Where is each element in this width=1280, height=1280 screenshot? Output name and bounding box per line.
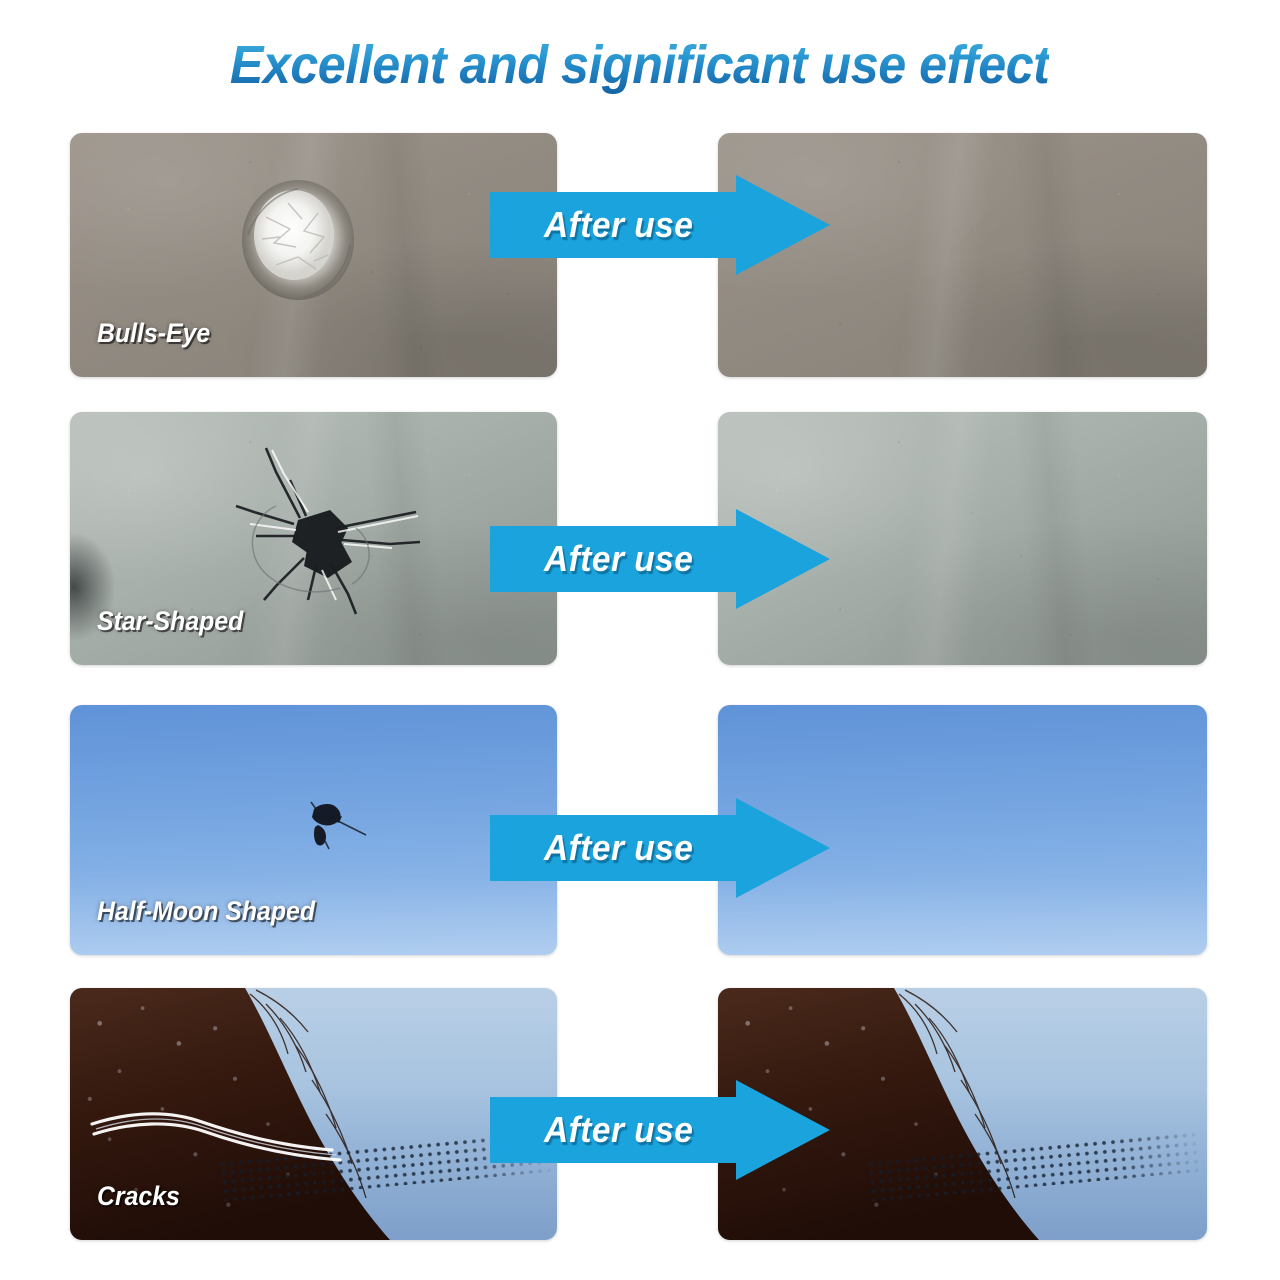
bulls-eye-chip-icon: [218, 165, 378, 315]
crack-lines-icon: [90, 1088, 390, 1178]
before-image-star-shaped: Star-Shaped: [70, 412, 557, 665]
comparison-row-half-moon-shaped: Half-Moon Shaped After use: [0, 705, 1280, 955]
before-image-cracks: Cracks: [70, 988, 557, 1240]
comparison-row-bulls-eye: Bulls-Eye After use: [0, 133, 1280, 377]
page-title: Excellent and significant use effect: [230, 34, 1050, 96]
comparison-row-star-shaped: Star-Shaped After use: [0, 412, 1280, 665]
page-header: Excellent and significant use effect: [0, 34, 1280, 96]
after-image-bulls-eye: [718, 133, 1207, 377]
sky-haze: [718, 875, 1207, 955]
foliage-highlights: [718, 988, 1048, 1240]
arrow-label: After use: [544, 204, 693, 246]
surface-streaks: [718, 133, 1207, 377]
arrow-label: After use: [544, 538, 693, 580]
after-image-cracks: [718, 988, 1207, 1240]
half-moon-chip-icon: [298, 797, 368, 853]
after-image-half-moon-shaped: [718, 705, 1207, 955]
caption-half-moon-shaped: Half-Moon Shaped: [97, 896, 315, 927]
caption-star-shaped: Star-Shaped: [97, 606, 243, 637]
after-image-star-shaped: [718, 412, 1207, 665]
comparison-row-cracks: Cracks: [0, 988, 1280, 1240]
star-crack-icon: [180, 432, 440, 622]
arrow-label: After use: [544, 1109, 693, 1151]
caption-bulls-eye: Bulls-Eye: [97, 318, 210, 349]
caption-cracks: Cracks: [97, 1181, 180, 1212]
surface-streaks: [718, 412, 1207, 665]
before-image-half-moon-shaped: Half-Moon Shaped: [70, 705, 557, 955]
arrow-label: After use: [544, 827, 693, 869]
before-image-bulls-eye: Bulls-Eye: [70, 133, 557, 377]
